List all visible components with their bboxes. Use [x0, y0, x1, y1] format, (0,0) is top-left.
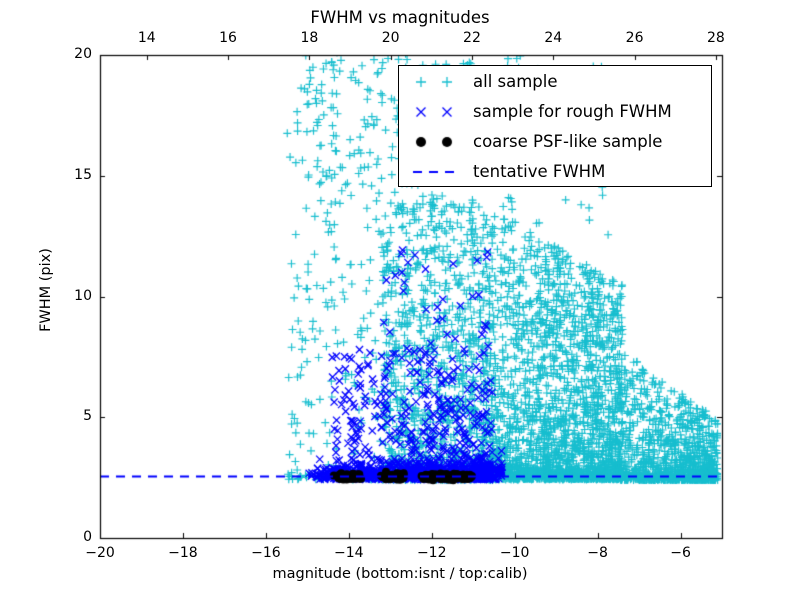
dashed-line-icon — [407, 157, 465, 187]
x-tick-top-2: 18 — [300, 30, 318, 46]
x-tick-bottom-2: −16 — [251, 545, 281, 561]
x-tick-top-3: 20 — [382, 30, 400, 46]
x-tick-bottom-4: −12 — [417, 545, 447, 561]
x-tick-top-5: 24 — [544, 30, 562, 46]
legend-label-3: tentative FWHM — [473, 157, 605, 187]
legend-entry-1[interactable]: sample for rough FWHM — [399, 97, 713, 127]
y-tick-3: 15 — [74, 167, 92, 183]
legend-label-1: sample for rough FWHM — [473, 97, 672, 127]
cross-icon — [407, 97, 465, 127]
legend-label-2: coarse PSF-like sample — [473, 127, 662, 157]
x-tick-top-6: 26 — [626, 30, 644, 46]
x-tick-bottom-1: −18 — [168, 545, 198, 561]
legend-entry-2[interactable]: coarse PSF-like sample — [399, 127, 713, 157]
legend: all samplesample for rough FWHMcoarse PS… — [398, 65, 712, 187]
x-tick-bottom-7: −6 — [670, 545, 691, 561]
x-tick-top-4: 22 — [463, 30, 481, 46]
plus-icon — [407, 67, 465, 97]
legend-entry-0[interactable]: all sample — [399, 67, 713, 97]
y-tick-1: 5 — [83, 408, 92, 424]
figure-canvas: FWHM vs magnitudes magnitude (bottom:isn… — [0, 0, 800, 600]
x-tick-bottom-0: −20 — [85, 545, 115, 561]
y-tick-0: 0 — [83, 529, 92, 545]
legend-entry-3[interactable]: tentative FWHM — [399, 157, 713, 187]
x-tick-bottom-3: −14 — [334, 545, 364, 561]
x-tick-bottom-6: −8 — [587, 545, 608, 561]
y-tick-4: 20 — [74, 46, 92, 62]
legend-label-0: all sample — [473, 67, 558, 97]
x-tick-bottom-5: −10 — [500, 545, 530, 561]
x-tick-top-1: 16 — [219, 30, 237, 46]
x-tick-top-0: 14 — [138, 30, 156, 46]
y-tick-2: 10 — [74, 288, 92, 304]
x-tick-top-7: 28 — [707, 30, 725, 46]
dot-icon — [407, 127, 465, 157]
